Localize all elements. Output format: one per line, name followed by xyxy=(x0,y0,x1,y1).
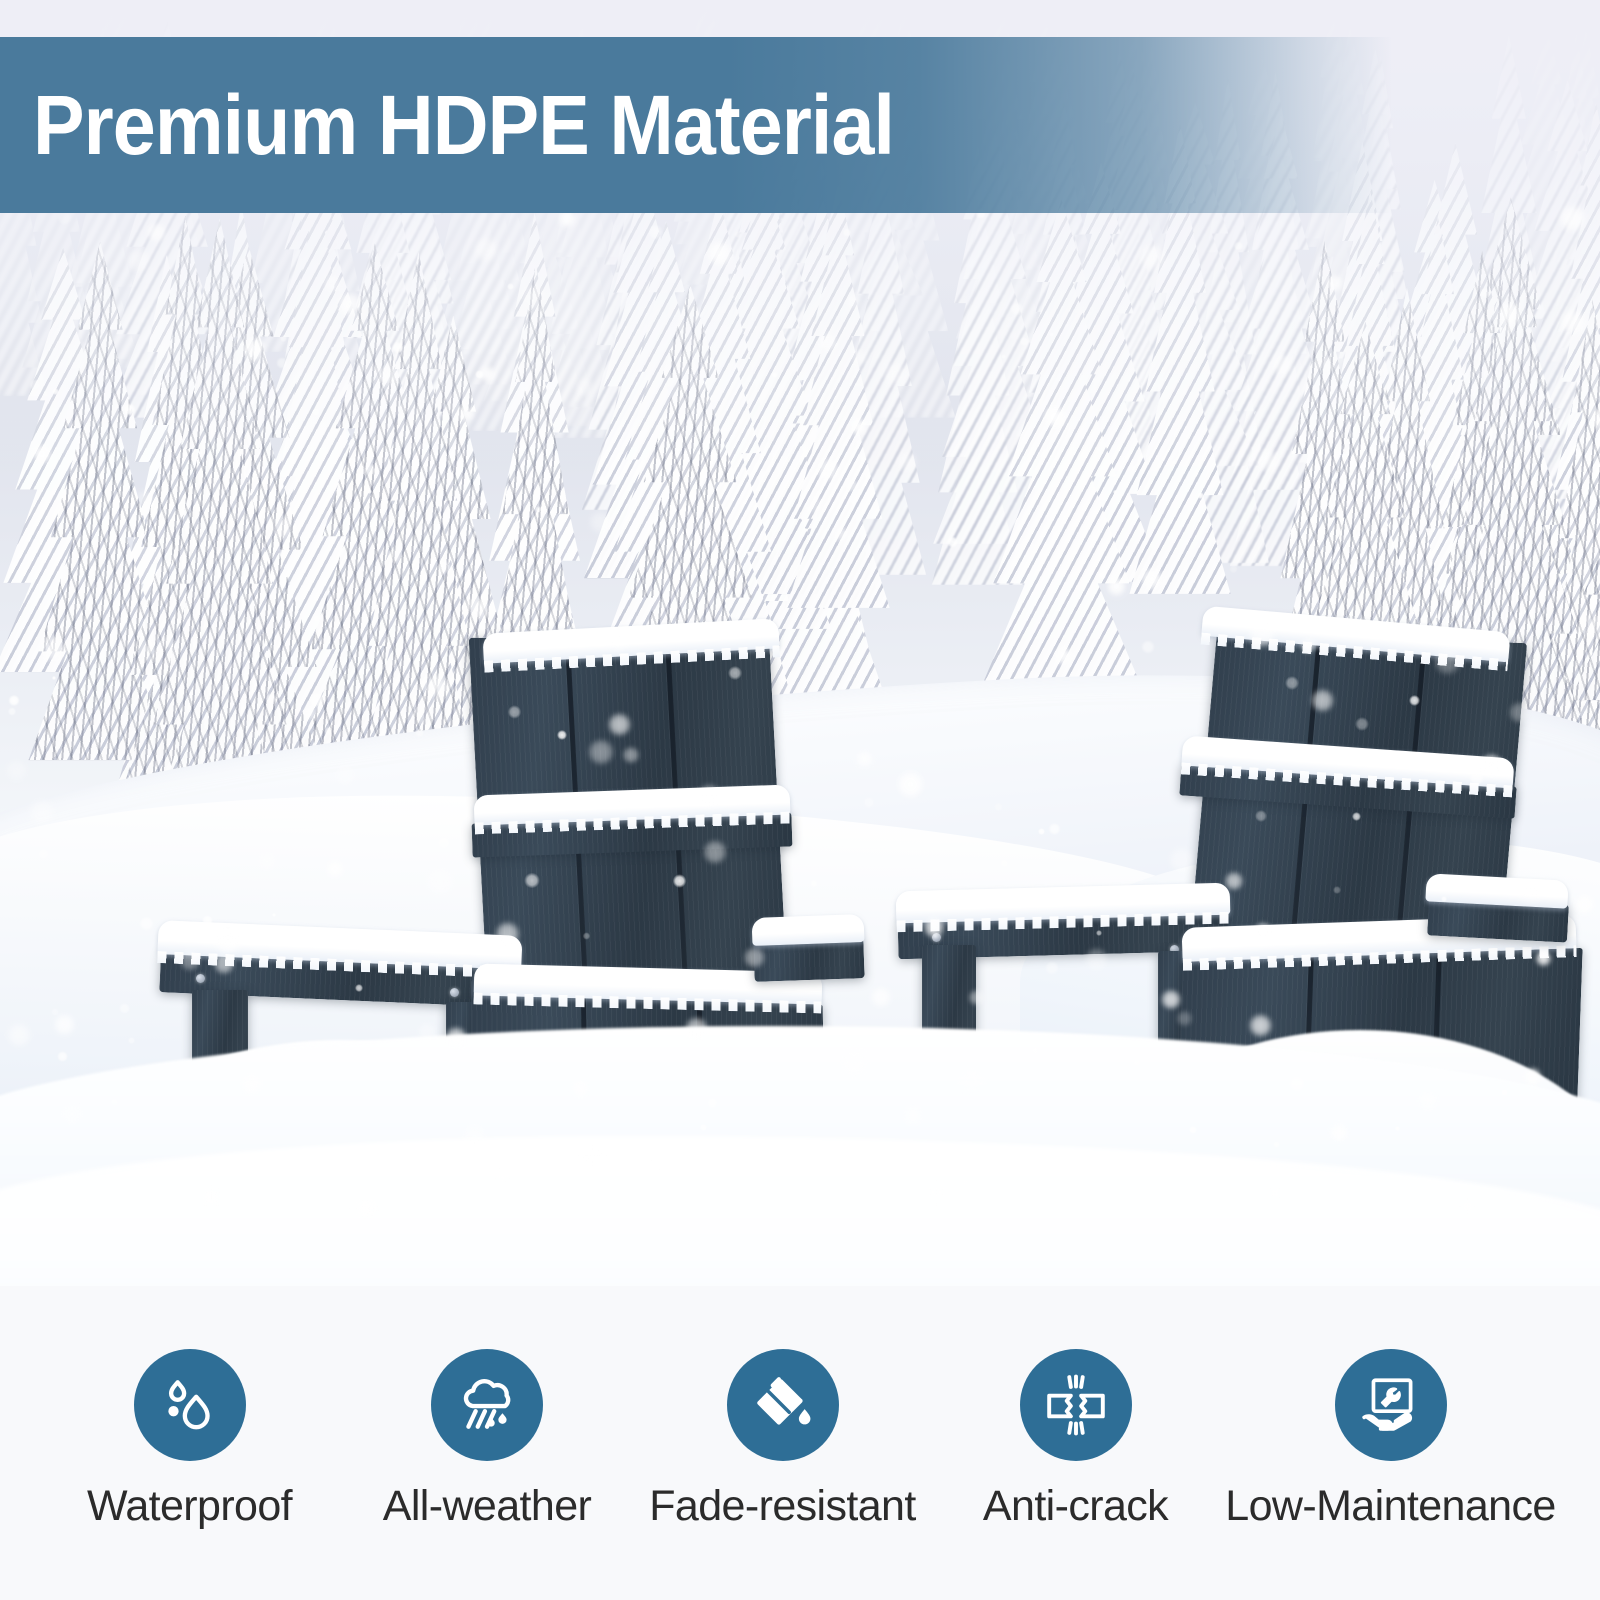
snow-particle xyxy=(53,1013,76,1036)
snow-particle xyxy=(1300,637,1317,654)
snow-particle xyxy=(1325,274,1343,292)
feature-label: Fade-resistant xyxy=(649,1482,915,1531)
snow-particle xyxy=(1096,930,1102,936)
snow-particle xyxy=(494,1167,511,1184)
snow-particle xyxy=(479,365,496,382)
snow-particle xyxy=(1189,1126,1197,1134)
snow-particle xyxy=(810,880,817,887)
snow-particle xyxy=(444,1026,468,1050)
snow-particle xyxy=(240,1073,262,1095)
snow-particle xyxy=(260,1189,270,1199)
snow-particle xyxy=(845,293,862,310)
snow-particle xyxy=(1535,950,1552,967)
snow-particle xyxy=(136,636,162,662)
snow-particle xyxy=(1558,204,1587,233)
snow-particle xyxy=(1361,398,1365,402)
snow-particle xyxy=(1289,1076,1305,1092)
snow-particle xyxy=(684,1016,709,1041)
snow-particle xyxy=(1253,922,1273,942)
snow-particle xyxy=(5,759,28,782)
snow-particle xyxy=(622,746,640,764)
snow-particle xyxy=(1138,243,1166,271)
page-title: Premium HDPE Material xyxy=(33,77,894,174)
snow-particle xyxy=(1176,1010,1193,1027)
snow-particle xyxy=(313,615,320,622)
snow-particle xyxy=(1333,886,1341,894)
snow-particle xyxy=(923,916,946,939)
snow-particle xyxy=(849,418,867,436)
snow-particle xyxy=(123,403,136,416)
snow-particle xyxy=(437,560,451,574)
snow-particle xyxy=(962,1178,969,1185)
snow-particle xyxy=(816,457,840,481)
snow-particle xyxy=(1359,1191,1364,1196)
snow-particle xyxy=(843,228,851,236)
snow-particle xyxy=(6,1022,32,1048)
snow-particle xyxy=(697,783,722,808)
snow-particle xyxy=(1501,1089,1508,1096)
snow-particle xyxy=(1518,882,1543,907)
snow-particle xyxy=(1425,440,1432,447)
snow-particle xyxy=(924,1179,949,1204)
snow-particle xyxy=(415,729,423,737)
snow-particle xyxy=(524,873,539,888)
snow-particle xyxy=(807,496,826,515)
snow-particle xyxy=(179,949,201,971)
snow-particle xyxy=(258,853,275,870)
snow-particle xyxy=(864,1189,872,1197)
product-feature-card: Premium HDPE Material Waterproof xyxy=(0,0,1600,1600)
snow-particle xyxy=(473,236,499,262)
snow-particle xyxy=(994,803,1002,811)
snow-particle xyxy=(1418,1091,1438,1111)
snow-particle xyxy=(1048,823,1060,835)
snow-particle xyxy=(337,291,363,317)
snow-particle xyxy=(268,512,297,541)
snow-particle xyxy=(387,548,402,563)
snow-particle xyxy=(1038,828,1046,836)
feature-fade-resistant[interactable]: Fade-resistant xyxy=(635,1286,931,1531)
feature-anti-crack[interactable]: Anti-crack xyxy=(931,1286,1221,1531)
snow-particle xyxy=(1019,337,1029,347)
snow-particle xyxy=(1168,846,1195,873)
snow-particle xyxy=(425,867,455,897)
snow-particle xyxy=(1433,647,1462,676)
feature-label: Low-Maintenance xyxy=(1225,1482,1555,1531)
snow-particle xyxy=(83,1197,88,1202)
snow-particle xyxy=(574,376,595,397)
feature-all-weather[interactable]: All-weather xyxy=(340,1286,635,1531)
snow-particle xyxy=(32,444,52,464)
snow-particle xyxy=(1329,1123,1349,1143)
snow-particle xyxy=(1352,812,1361,821)
feature-low-maintenance[interactable]: Low-Maintenance xyxy=(1221,1286,1561,1531)
snow-particle xyxy=(28,798,56,826)
snow-particle xyxy=(1141,640,1155,654)
snow-particle xyxy=(1478,633,1489,644)
snow-particle xyxy=(1270,353,1295,378)
feature-label: All-weather xyxy=(383,1482,591,1531)
snow-particle xyxy=(896,770,924,798)
hand-wrench-screen-icon xyxy=(1335,1349,1447,1461)
snow-particle xyxy=(508,705,521,718)
snow-particle xyxy=(326,860,344,878)
snow-particle xyxy=(882,361,908,387)
snow-particle xyxy=(947,536,958,547)
rain-cloud-icon xyxy=(431,1349,543,1461)
snow-particle xyxy=(734,231,741,238)
snow-particle xyxy=(1000,859,1009,868)
chair-armrest-left-snow xyxy=(896,883,1231,924)
water-drops-icon xyxy=(134,1349,246,1461)
snow-particle xyxy=(728,666,742,680)
snow-particle xyxy=(362,463,376,477)
snow-particle xyxy=(607,712,632,737)
snow-particle xyxy=(855,750,874,769)
snow-particle xyxy=(1106,576,1127,597)
snow-particle xyxy=(1140,567,1164,591)
snow-particle xyxy=(265,693,276,704)
crack-bar-icon xyxy=(1020,1349,1132,1461)
snow-particle xyxy=(583,932,590,939)
snow-particle xyxy=(110,1098,119,1107)
snow-particle xyxy=(367,489,372,494)
snow-particle xyxy=(1559,308,1587,336)
snow-particle xyxy=(641,1151,670,1180)
snow-particle xyxy=(1395,1126,1400,1131)
snow-particle xyxy=(904,1106,922,1124)
snow-particle xyxy=(376,363,400,387)
snow-particle xyxy=(743,946,766,969)
feature-label: Anti-crack xyxy=(983,1482,1168,1531)
snow-particle xyxy=(353,1196,378,1221)
snow-particle xyxy=(1160,989,1181,1010)
snow-particle xyxy=(201,1186,223,1208)
snow-particle xyxy=(131,1175,137,1181)
snow-particle xyxy=(618,793,635,810)
snow-particle xyxy=(957,1066,986,1095)
snow-particle xyxy=(125,248,150,273)
snow-particle xyxy=(771,372,777,378)
snow-particle xyxy=(1234,241,1243,250)
snow-particle xyxy=(1317,356,1336,375)
snow-particle xyxy=(557,730,567,740)
snow-particle xyxy=(870,986,891,1007)
paint-bucket-icon xyxy=(727,1349,839,1461)
snow-particle xyxy=(494,921,520,947)
snow-particle xyxy=(202,915,213,926)
snow-particle xyxy=(52,388,59,395)
snow-particle xyxy=(1229,565,1237,573)
snow-particle xyxy=(162,635,176,649)
snow-particle xyxy=(839,1047,868,1076)
feature-label: Waterproof xyxy=(87,1482,292,1531)
snow-particle xyxy=(29,379,40,390)
snow-particle xyxy=(702,839,728,865)
snow-particle xyxy=(241,336,266,361)
snow-particle xyxy=(707,1098,717,1108)
snow-particle xyxy=(1508,701,1531,724)
feature-strip: Waterproof All-weather xyxy=(0,1286,1600,1600)
chair-armrest-right-snow xyxy=(752,914,865,946)
snow-particle xyxy=(648,224,664,240)
snow-particle xyxy=(128,1037,135,1044)
snow-particle xyxy=(1574,894,1595,915)
snow-particle xyxy=(355,984,362,991)
snow-particle xyxy=(587,738,615,766)
snow-particle xyxy=(1084,947,1109,972)
snow-particle xyxy=(8,695,20,707)
snow-particle xyxy=(1480,753,1503,776)
snow-particle xyxy=(1054,646,1073,665)
feature-waterproof[interactable]: Waterproof xyxy=(40,1286,340,1531)
snow-particle xyxy=(39,634,69,664)
snow-particle xyxy=(38,849,48,859)
snow-particle xyxy=(1409,695,1420,706)
snow-particle xyxy=(1459,1198,1476,1215)
snow-particle xyxy=(611,634,628,651)
headline-banner: Premium HDPE Material xyxy=(0,37,1392,213)
snow-particle xyxy=(520,283,547,310)
snow-particle xyxy=(139,916,154,931)
snow-particle xyxy=(1355,717,1369,731)
snow-particle xyxy=(673,874,687,888)
snow-particle xyxy=(1045,961,1059,975)
